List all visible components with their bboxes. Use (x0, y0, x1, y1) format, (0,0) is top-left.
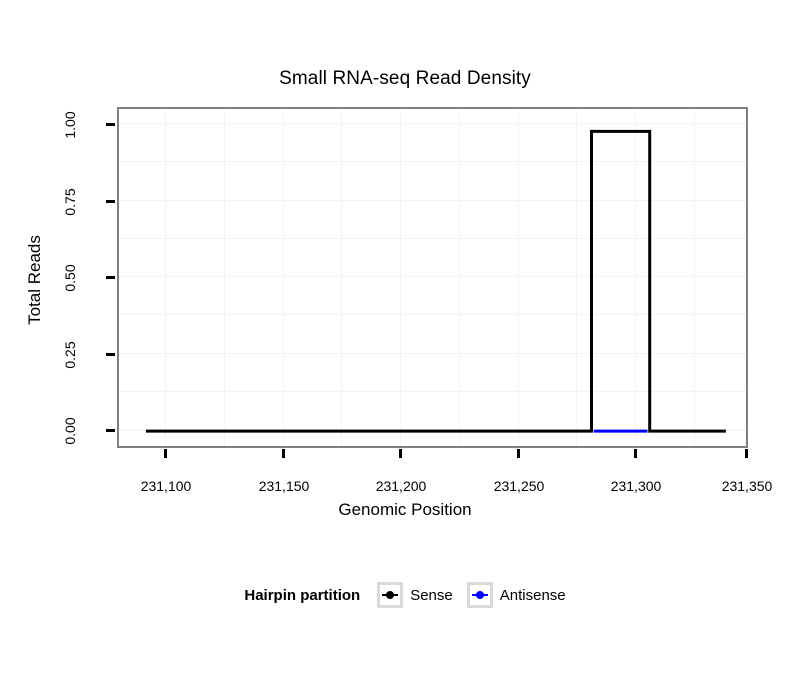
x-tick-mark-231150 (282, 449, 285, 458)
chart-title: Small RNA-seq Read Density (0, 68, 810, 90)
y-tick-mark-1.00 (106, 123, 115, 126)
x-tick-label-231250: 231,250 (494, 478, 545, 494)
legend-key-sense (377, 582, 403, 608)
chart-figure: Small RNA-seq Read Density Total Reads 1… (0, 0, 810, 690)
x-tick-mark-231200 (399, 449, 402, 458)
legend-label-antisense: Antisense (500, 587, 566, 604)
x-tick-label-231200: 231,200 (376, 478, 427, 494)
y-tick-mark-0.75 (106, 200, 115, 203)
legend-label-sense: Sense (410, 587, 453, 604)
y-tick-mark-0.50 (106, 276, 115, 279)
x-tick-label-231150: 231,150 (259, 478, 310, 494)
y-tick-label-1: 0.75 (62, 177, 78, 227)
x-tick-label-231300: 231,300 (611, 478, 662, 494)
x-tick-label-231350: 231,350 (722, 478, 773, 494)
x-tick-mark-231300 (634, 449, 637, 458)
legend-key-sense-dot (386, 591, 394, 599)
legend-entry-antisense[interactable]: Antisense (467, 582, 566, 608)
x-tick-mark-231100 (164, 449, 167, 458)
legend-key-antisense-dot (476, 591, 484, 599)
x-tick-mark-231250 (517, 449, 520, 458)
plot-panel (117, 107, 748, 448)
y-tick-label-3: 0.25 (62, 330, 78, 380)
series-layer (119, 109, 746, 446)
legend-key-antisense (467, 582, 493, 608)
plot-area (119, 109, 746, 446)
legend: Hairpin partition Sense Antisense (0, 582, 810, 608)
y-tick-label-2: 0.50 (62, 253, 78, 303)
series-sense-line (146, 131, 726, 431)
y-tick-label-0: 1.00 (62, 100, 78, 150)
y-tick-mark-0.25 (106, 353, 115, 356)
legend-title: Hairpin partition (244, 587, 360, 604)
y-tick-label-4: 0.00 (62, 406, 78, 456)
y-axis-title: Total Reads (25, 200, 45, 360)
legend-entry-sense[interactable]: Sense (377, 582, 453, 608)
x-axis-title: Genomic Position (0, 500, 810, 520)
y-tick-mark-0.00 (106, 429, 115, 432)
x-tick-mark-231350 (745, 449, 748, 458)
x-tick-label-231100: 231,100 (141, 478, 192, 494)
